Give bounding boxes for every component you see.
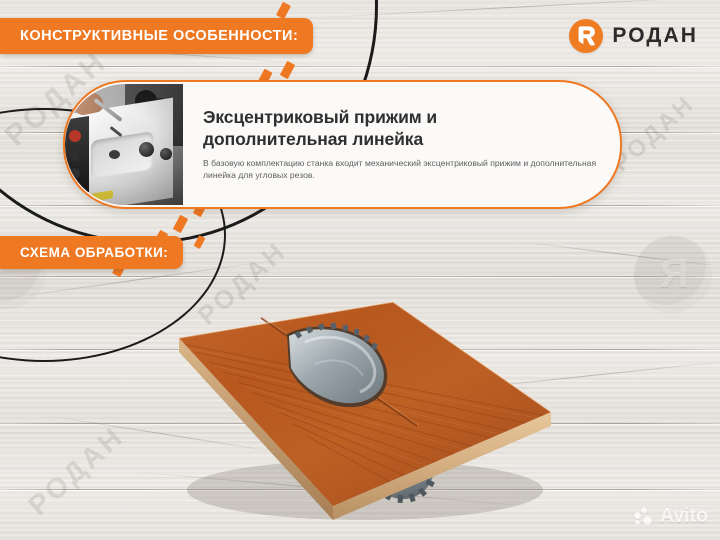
- slide-canvas: РОДАН РОДАН РОДАН РОДАН Я КОНСТРУКТИВНЫЕ…: [0, 0, 720, 540]
- banner-scheme-label: СХЕМА ОБРАБОТКИ:: [20, 245, 168, 260]
- feature-card-title-line1: Эксцентриковый прижим и: [203, 107, 437, 127]
- avito-label: Avito: [660, 505, 708, 528]
- feature-card: Эксцентриковый прижим и дополнительная л…: [63, 80, 622, 209]
- watermark-logo-r-right: Я: [660, 252, 689, 297]
- banner-constructive-features: КОНСТРУКТИВНЫЕ ОСОБЕННОСТИ:: [0, 18, 313, 54]
- banner-processing-scheme: СХЕМА ОБРАБОТКИ:: [0, 236, 183, 269]
- feature-card-photo: [65, 84, 183, 205]
- brand-logo-text: РОДАН: [612, 24, 698, 48]
- feature-card-title: Эксцентриковый прижим и дополнительная л…: [203, 107, 598, 150]
- feature-card-title-line2: дополнительная линейка: [203, 129, 423, 149]
- feature-card-body: В базовую комплектацию станка входит мех…: [203, 157, 598, 181]
- avito-watermark: Avito: [634, 505, 708, 528]
- processing-scheme-photo: [165, 290, 565, 525]
- feature-card-text: Эксцентриковый прижим и дополнительная л…: [183, 107, 620, 181]
- avito-dots-icon: [634, 507, 656, 527]
- brand-logo: РОДАН: [569, 19, 698, 53]
- banner-features-label: КОНСТРУКТИВНЫЕ ОСОБЕННОСТИ:: [20, 28, 298, 44]
- rodan-r-logo-icon: [569, 19, 603, 53]
